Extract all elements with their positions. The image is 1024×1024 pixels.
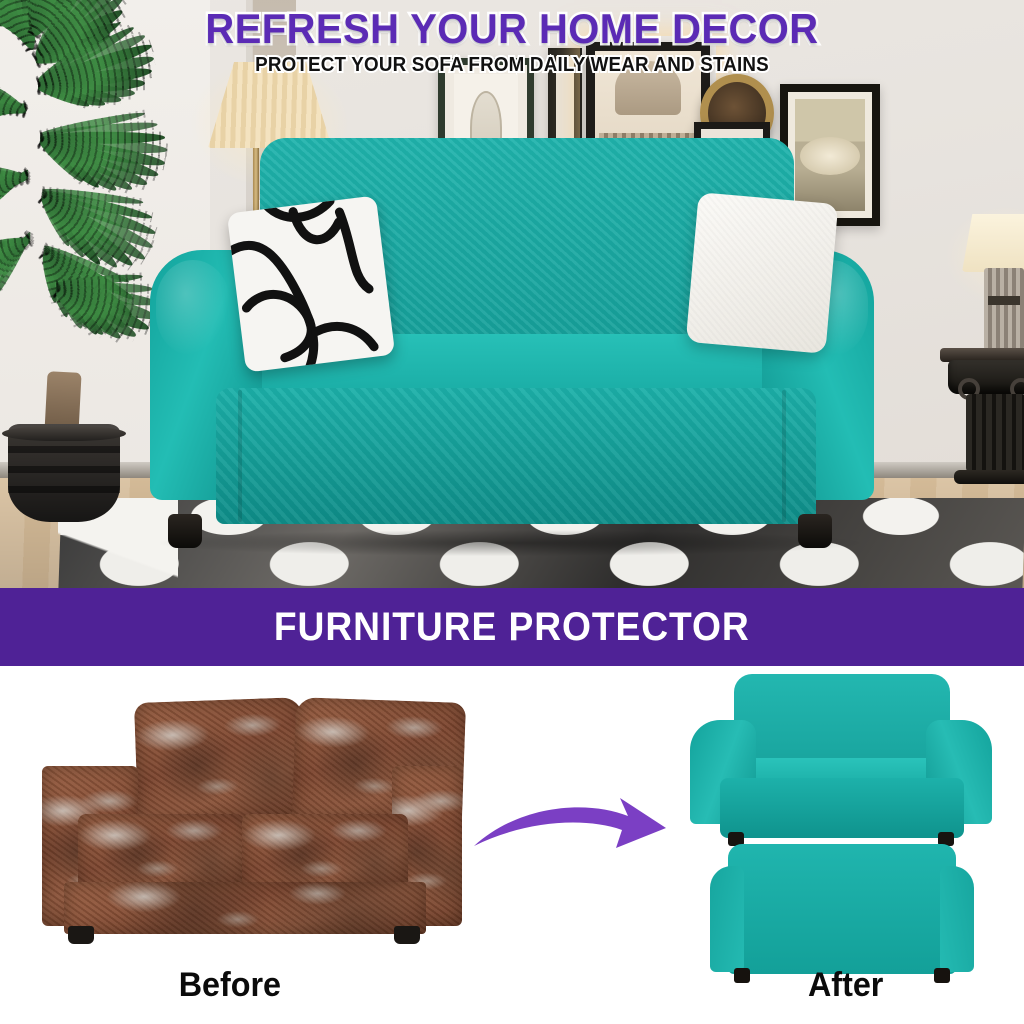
side-table-foot xyxy=(954,470,1024,484)
before-cushion-left xyxy=(78,814,244,890)
pot-rib xyxy=(8,446,120,453)
cover-body xyxy=(728,844,956,974)
transformation-arrow-icon xyxy=(470,786,670,856)
sofa-skirt xyxy=(216,388,816,524)
cover-foot-left xyxy=(734,968,750,983)
banner-label: FURNITURE PROTECTOR xyxy=(274,605,750,650)
before-sofa xyxy=(42,690,462,940)
sofa-crease-right xyxy=(782,390,786,522)
before-cushion-right xyxy=(242,814,408,890)
after-sofa xyxy=(690,674,990,846)
cover-foot-right xyxy=(934,968,950,983)
sofa-foot-left xyxy=(168,514,202,548)
table-lamp-shade xyxy=(962,214,1024,272)
product-marketing-image: REFRESH YOUR HOME DECOR PROTECT YOUR SOF… xyxy=(0,0,1024,1024)
white-textured-pillow xyxy=(686,192,839,354)
plant-pot xyxy=(8,424,120,522)
fabric-texture xyxy=(216,388,816,524)
after-skirt xyxy=(720,778,964,838)
before-foot-right xyxy=(394,926,420,944)
abstract-line-art-pillow xyxy=(227,195,395,372)
sofa-shadow xyxy=(160,530,860,556)
sofa-foot-right xyxy=(798,514,832,548)
page-title: REFRESH YOUR HOME DECOR xyxy=(26,8,999,50)
page-subtitle: PROTECT YOUR SOFA FROM DAILY WEAR AND ST… xyxy=(31,54,994,77)
hero-scene: REFRESH YOUR HOME DECOR PROTECT YOUR SOF… xyxy=(0,0,1024,588)
side-table xyxy=(940,348,1024,486)
side-table-capital xyxy=(948,360,1024,394)
pot-rib xyxy=(8,466,120,473)
furniture-protector-banner: FURNITURE PROTECTOR xyxy=(0,588,1024,666)
before-base xyxy=(64,882,426,934)
after-label: After xyxy=(808,966,883,1005)
before-label: Before xyxy=(179,966,281,1005)
before-foot-left xyxy=(68,926,94,944)
pot-rib xyxy=(8,486,120,493)
table-lamp-body xyxy=(984,268,1024,350)
before-backrest-left xyxy=(134,697,306,823)
pillow-line-art xyxy=(227,195,395,372)
headline-block: REFRESH YOUR HOME DECOR PROTECT YOUR SOF… xyxy=(0,8,1024,77)
cover-arm-right xyxy=(940,866,974,972)
side-table-column xyxy=(966,394,1024,472)
table-lamp-detail xyxy=(988,296,1020,305)
cover-arm-left xyxy=(710,866,744,972)
sofa-crease-left xyxy=(238,390,242,522)
